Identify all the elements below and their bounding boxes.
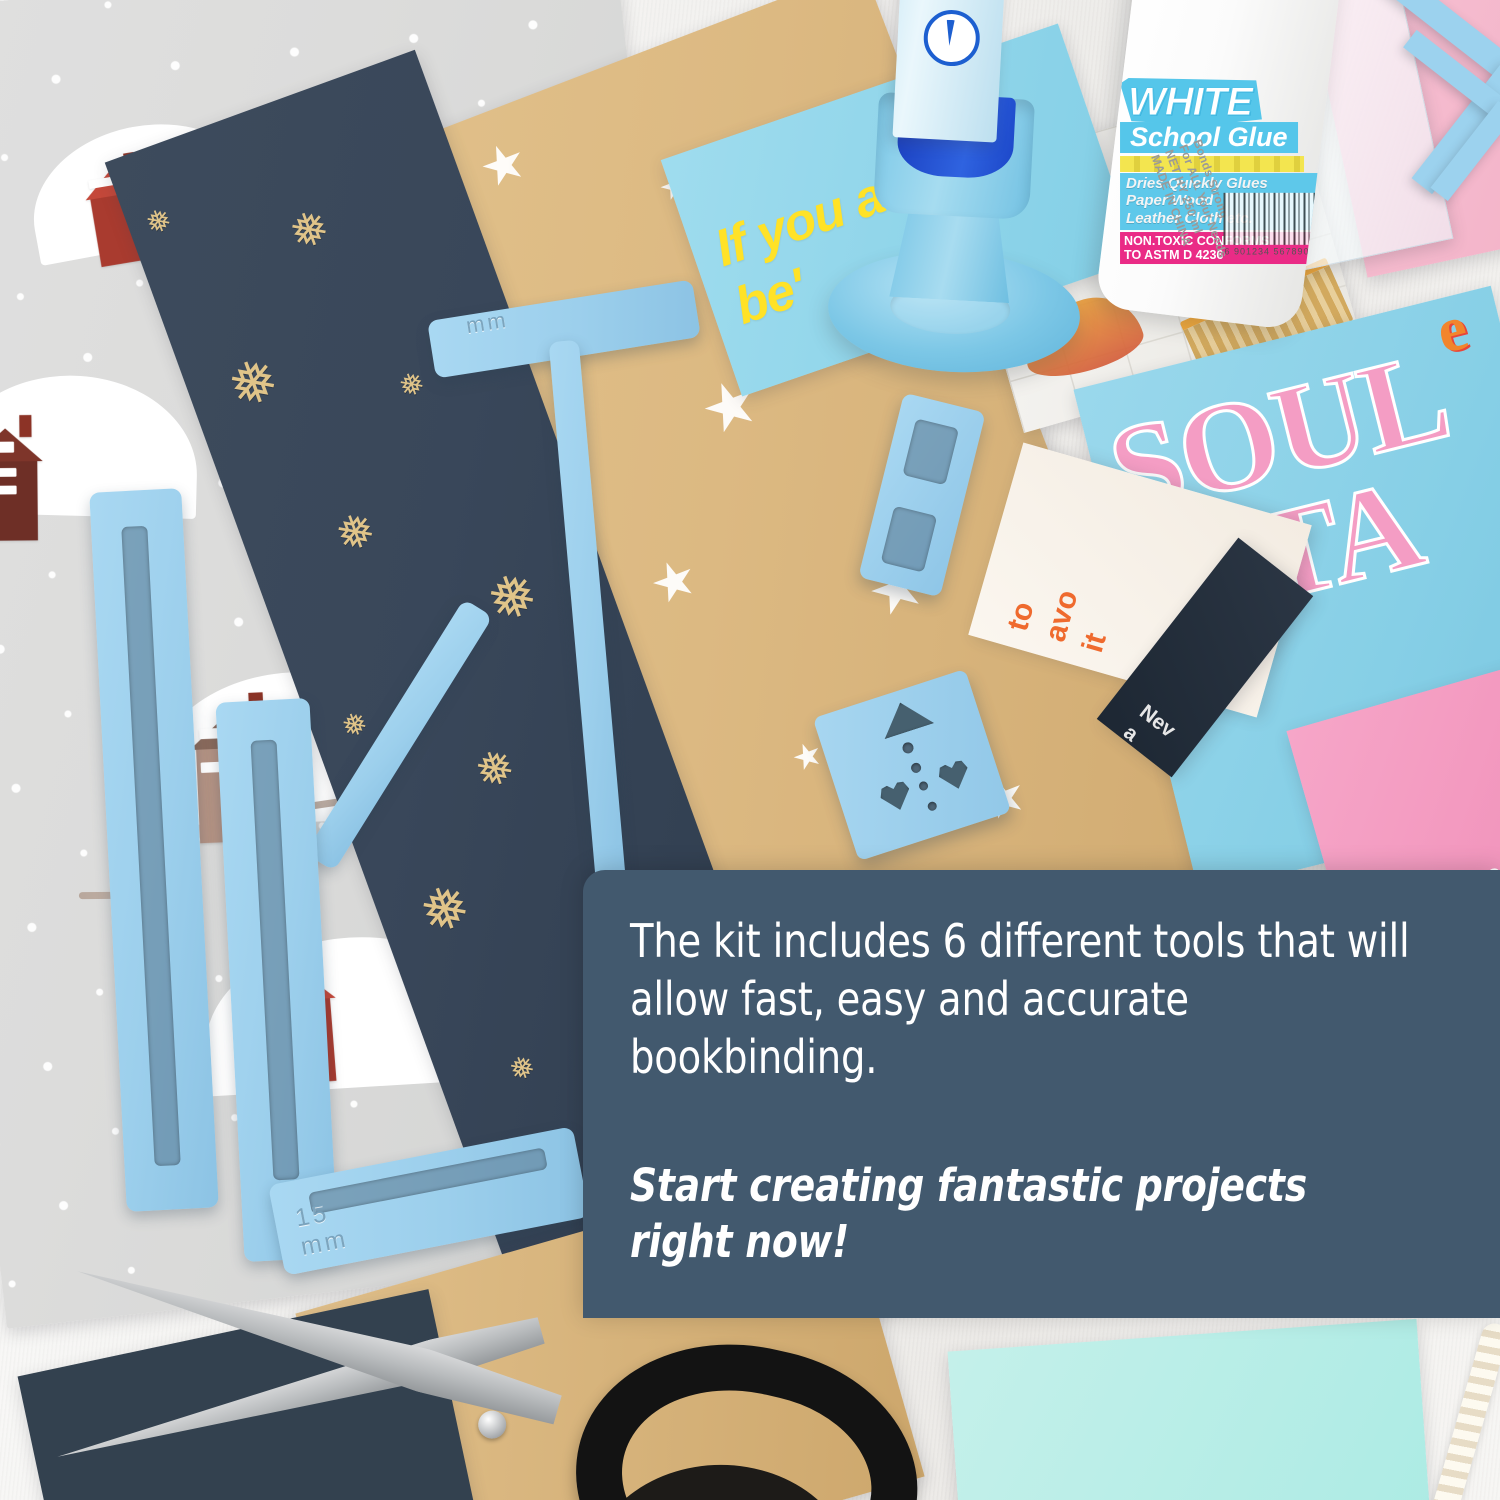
star-icon: ★ xyxy=(643,549,705,614)
caption-overlay-panel: The kit includes 6 different tools that … xyxy=(583,870,1500,1318)
snowflake-icon: ❅ xyxy=(221,348,287,419)
snowflake-icon: ❅ xyxy=(330,504,382,560)
circle-hole-2 xyxy=(910,762,923,775)
caption-main-text: The kit includes 6 different tools that … xyxy=(630,912,1411,1086)
caption-body: The kit includes 6 different tools that … xyxy=(630,912,1470,1270)
barcode-number: 6 901234 567890 xyxy=(1224,247,1309,257)
punch-slot-lower xyxy=(881,506,938,573)
caption-cta-text: Start creating fantastic projects right … xyxy=(630,1158,1411,1270)
glue-pen: glue pen xyxy=(892,0,1011,143)
heart-hole-right xyxy=(936,757,973,793)
snowflake-icon: ❅ xyxy=(142,204,176,241)
star-icon: ★ xyxy=(472,133,534,198)
circle-hole-1 xyxy=(901,741,915,755)
snowflake-icon: ❅ xyxy=(469,741,521,797)
snowflake-icon: ❅ xyxy=(338,708,372,745)
punch-slot-upper xyxy=(902,418,959,485)
snowflake-icon: ❅ xyxy=(283,201,335,257)
glue-brand-line2: School Glue xyxy=(1120,122,1298,153)
heart-hole-left xyxy=(877,779,914,815)
product-photo-scene: ★ ★ ★ ★ ★ ★ ★ ★ ★ ★ ★ ★ ★ ★ ★ ❅ ❅ ❅ ❅ ❅ … xyxy=(0,0,1500,1500)
mint-bottom-sheet xyxy=(948,1319,1433,1500)
snowflake-icon: ❅ xyxy=(506,1051,540,1088)
circle-hole-3 xyxy=(918,780,929,791)
orange-card-text: to avo it xyxy=(998,575,1125,657)
barcode xyxy=(1223,193,1319,245)
snowflake-icon: ❅ xyxy=(480,563,546,634)
snowflake-icon: ❅ xyxy=(413,875,479,946)
triangle-hole xyxy=(875,695,934,740)
house-motif xyxy=(0,428,43,541)
snowflake-icon: ❅ xyxy=(395,368,429,405)
glue-pen-ring-icon xyxy=(922,9,981,68)
glue-brand-line1: WHITE xyxy=(1120,78,1262,125)
bird-logo-icon: e xyxy=(1429,290,1474,369)
circle-hole-4 xyxy=(927,801,938,812)
